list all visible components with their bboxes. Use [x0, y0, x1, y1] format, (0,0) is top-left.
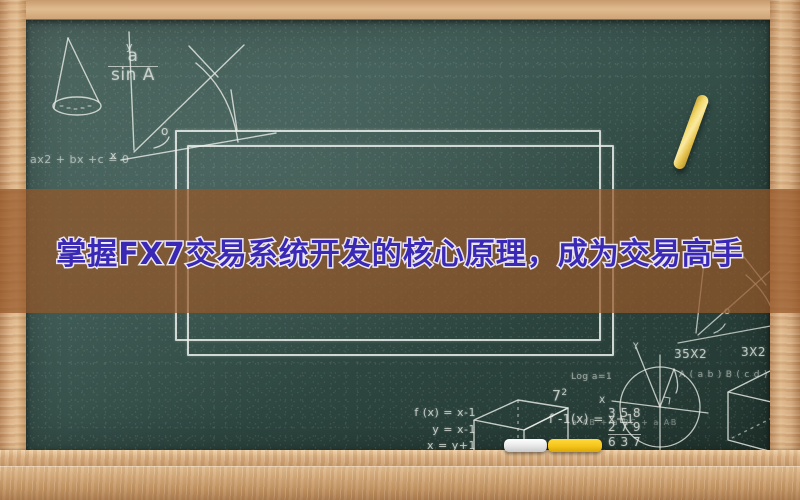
quadratic-equation: ax2 + bx +c = 0	[30, 153, 129, 166]
function-y: y = x-1	[398, 422, 476, 439]
white-chalk-piece	[504, 439, 547, 452]
topleft-angle-label: o	[161, 124, 169, 138]
frame-bottom-rail	[0, 466, 800, 500]
seven-exponent: 2	[561, 388, 567, 398]
frame-top-rail	[0, 0, 800, 20]
gold-chalk-stick-icon	[672, 93, 710, 170]
function-x: x = y+1	[398, 438, 476, 450]
function-fx: f (x) = x-1	[398, 405, 476, 422]
chalkboard-banner: a sin A y x o ax2 + bx +c = 0 o	[0, 0, 800, 500]
topleft-fraction-denominator: sin A	[108, 67, 158, 85]
bottomright-circle-figure	[604, 345, 734, 450]
seven-squared: 72	[552, 388, 568, 405]
bottomright-cube	[716, 360, 770, 450]
bottomcenter-function-block: f (x) = x-1 y = x-1 x = y+1	[398, 405, 476, 450]
topleft-fraction: a sin A	[108, 48, 158, 85]
yellow-chalk-piece	[548, 439, 602, 452]
multiplication-3x2: 3X2	[741, 345, 766, 359]
chalk-ledge	[0, 450, 800, 466]
topleft-axis-y-label: y	[126, 40, 133, 53]
page-title: 掌握FX7交易系统开发的核心原理，成为交易高手	[0, 189, 800, 313]
seven-base: 7	[552, 389, 561, 405]
